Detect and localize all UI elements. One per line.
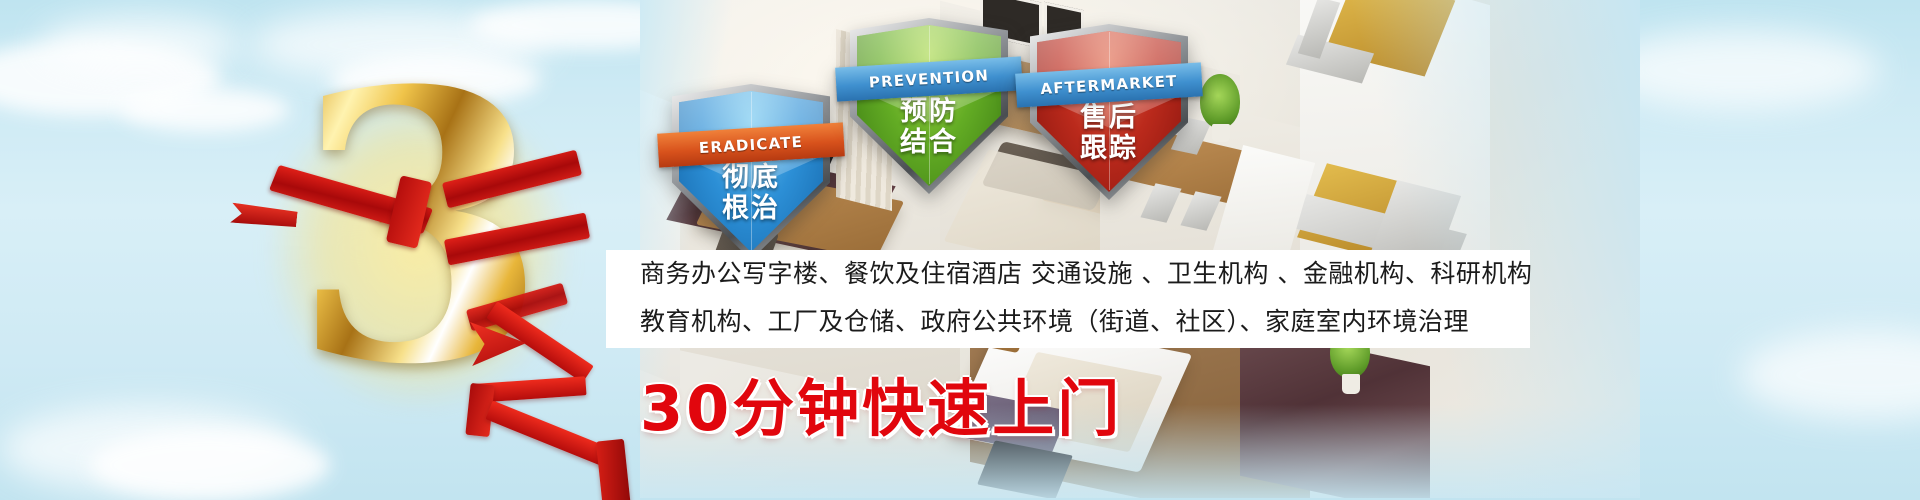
shield-chinese-text: 预防 结合 <box>850 96 1008 158</box>
shield-badge-eradicate: 彻底 根治 ERADICATE <box>672 84 830 260</box>
shield-banner-label: PREVENTION <box>868 66 989 91</box>
shield-cn-line2: 根治 <box>672 193 830 224</box>
shield-cn-line1: 彻底 <box>672 162 830 193</box>
shield-badge-aftermarket: 售后 跟踪 AFTERMARKET <box>1030 24 1188 200</box>
shield-cn-line1: 售后 <box>1030 102 1188 133</box>
service-scope-panel: 商务办公写字楼、餐饮及住宿酒店 交通设施 、卫生机构 、金融机构、科研机构 教育… <box>606 250 1530 348</box>
promo-banner: 3 彻底 根治 ERADICATE 预防 <box>0 0 1920 500</box>
service-scope-line-1: 商务办公写字楼、餐饮及住宿酒店 交通设施 、卫生机构 、金融机构、科研机构 <box>606 250 1530 298</box>
shield-banner-label: ERADICATE <box>698 133 803 157</box>
headline-text: 30分钟快速上门 <box>640 358 1122 448</box>
shield-cn-line2: 跟踪 <box>1030 133 1188 164</box>
shield-cn-line1: 预防 <box>850 96 1008 127</box>
shield-banner-label: AFTERMARKET <box>1040 72 1178 98</box>
service-scope-line-2: 教育机构、工厂及仓储、政府公共环境（街道、社区）、家庭室内环境治理 <box>606 298 1530 346</box>
shield-chinese-text: 彻底 根治 <box>672 162 830 224</box>
shield-badge-prevention: 预防 结合 PREVENTION <box>850 18 1008 194</box>
shield-chinese-text: 售后 跟踪 <box>1030 102 1188 164</box>
shield-cn-line2: 结合 <box>850 127 1008 158</box>
